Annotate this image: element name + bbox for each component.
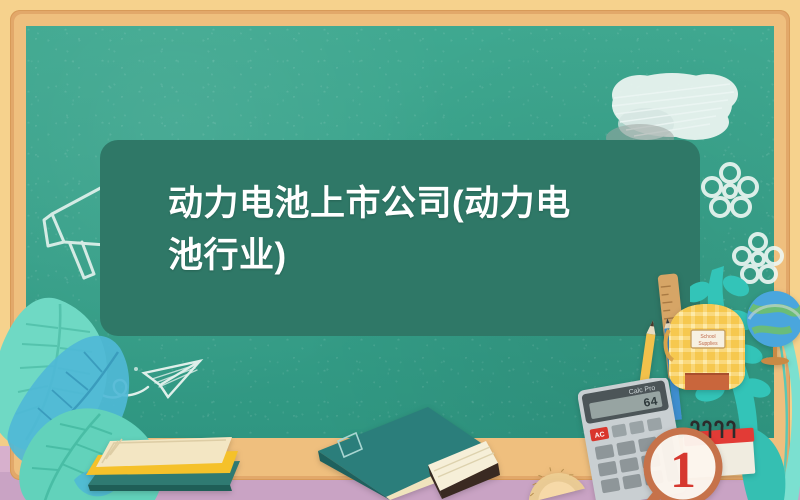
- page-title-line-2: 池行业): [168, 236, 287, 275]
- magnifying-glass: 1: [635, 425, 730, 500]
- magnifier-number: 1: [670, 442, 696, 499]
- calculator-display: 64: [642, 395, 659, 411]
- globe: [745, 285, 800, 370]
- page-title: 动力电池上市公司(动力电池行业): [168, 178, 638, 282]
- poster-canvas: 动力电池上市公司(动力电池行业): [0, 0, 800, 500]
- backpack-tag-line-1: School: [700, 334, 715, 340]
- books-center-stack: [300, 405, 500, 500]
- flower-doodle-a: [700, 160, 760, 227]
- page-title-line-1: 动力电池上市公司(动力电: [168, 184, 571, 223]
- books-left-stack: [80, 425, 255, 500]
- backpack-tag-line-2: Supplies: [698, 341, 718, 347]
